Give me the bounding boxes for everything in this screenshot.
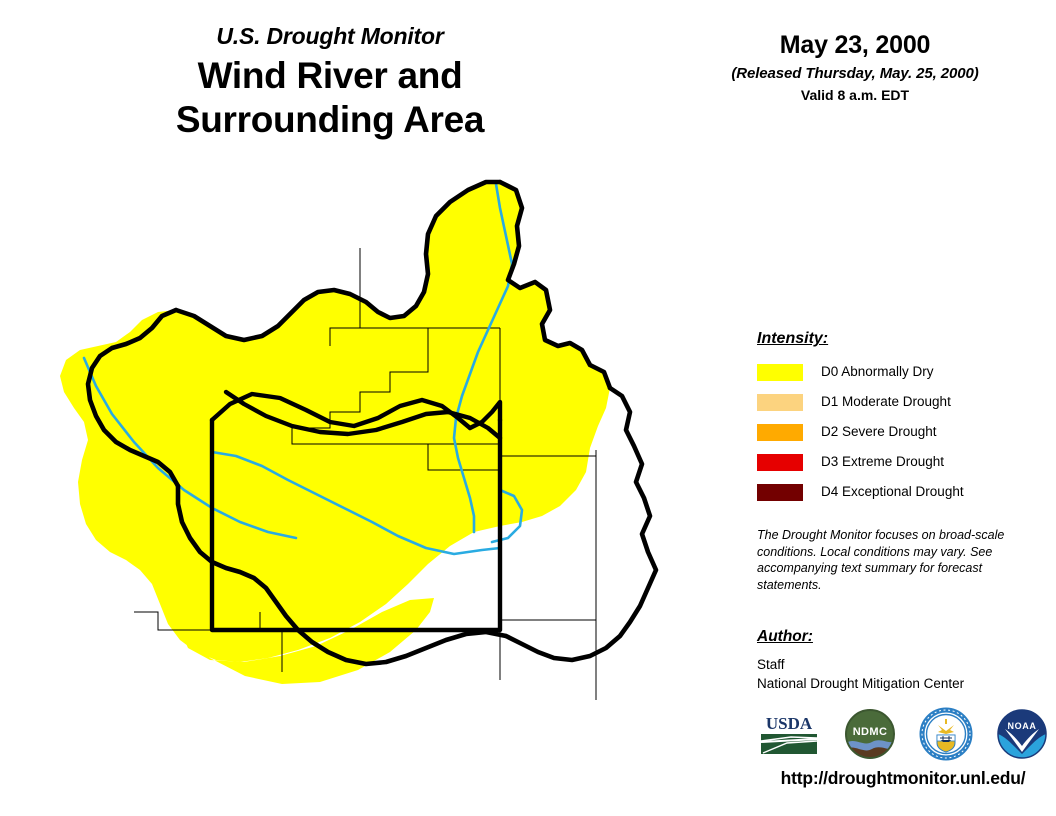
ndmc-logo-text: NDMC <box>853 726 888 738</box>
intensity-legend: Intensity: D0 Abnormally Dry D1 Moderate… <box>757 330 1047 511</box>
usda-logo-text: USDA <box>766 714 813 733</box>
map-svg <box>30 160 730 760</box>
author-organization: National Drought Mitigation Center <box>757 674 1047 693</box>
legend-swatch-d3 <box>757 454 803 471</box>
release-date: (Released Thursday, May. 25, 2000) <box>690 65 1020 82</box>
legend-label-d0: D0 Abnormally Dry <box>821 365 934 379</box>
noaa-logo: NOAA <box>995 707 1049 761</box>
drought-map <box>30 160 730 760</box>
legend-swatch-d1 <box>757 394 803 411</box>
legend-item-d2: D2 Severe Drought <box>757 421 1047 443</box>
legend-heading: Intensity: <box>757 330 1047 348</box>
valid-time: Valid 8 a.m. EDT <box>690 87 1020 103</box>
legend-item-d3: D3 Extreme Drought <box>757 451 1047 473</box>
ndmc-logo: NDMC <box>843 707 897 761</box>
disclaimer-text: The Drought Monitor focuses on broad-sca… <box>757 527 1015 593</box>
noaa-logo-text: NOAA <box>1008 721 1037 731</box>
legend-swatch-d2 <box>757 424 803 441</box>
legend-swatch-d4 <box>757 484 803 501</box>
valid-date: May 23, 2000 <box>690 32 1020 60</box>
legend-item-d1: D1 Moderate Drought <box>757 391 1047 413</box>
legend-label-d2: D2 Severe Drought <box>821 425 937 439</box>
usda-logo: USDA <box>757 710 821 758</box>
author-block: Author: Staff National Drought Mitigatio… <box>757 628 1047 693</box>
drought-monitor-supertitle: U.S. Drought Monitor <box>0 24 660 48</box>
partner-logos: USDA NDMC <box>757 705 1049 763</box>
header-title-block: U.S. Drought Monitor Wind River and Surr… <box>0 24 660 141</box>
page-title-line-2: Surrounding Area <box>0 98 660 142</box>
department-of-commerce-seal <box>919 707 973 761</box>
header-date-block: May 23, 2000 (Released Thursday, May. 25… <box>690 32 1020 103</box>
website-url[interactable]: http://droughtmonitor.unl.edu/ <box>757 768 1049 789</box>
page-title-line-1: Wind River and <box>0 54 660 98</box>
author-heading: Author: <box>757 628 1047 646</box>
author-name: Staff <box>757 655 1047 674</box>
page-title: Wind River and Surrounding Area <box>0 54 660 141</box>
legend-swatch-d0 <box>757 364 803 381</box>
legend-label-d1: D1 Moderate Drought <box>821 395 951 409</box>
legend-label-d3: D3 Extreme Drought <box>821 455 944 469</box>
legend-item-d4: D4 Exceptional Drought <box>757 481 1047 503</box>
legend-item-d0: D0 Abnormally Dry <box>757 361 1047 383</box>
legend-label-d4: D4 Exceptional Drought <box>821 485 964 499</box>
